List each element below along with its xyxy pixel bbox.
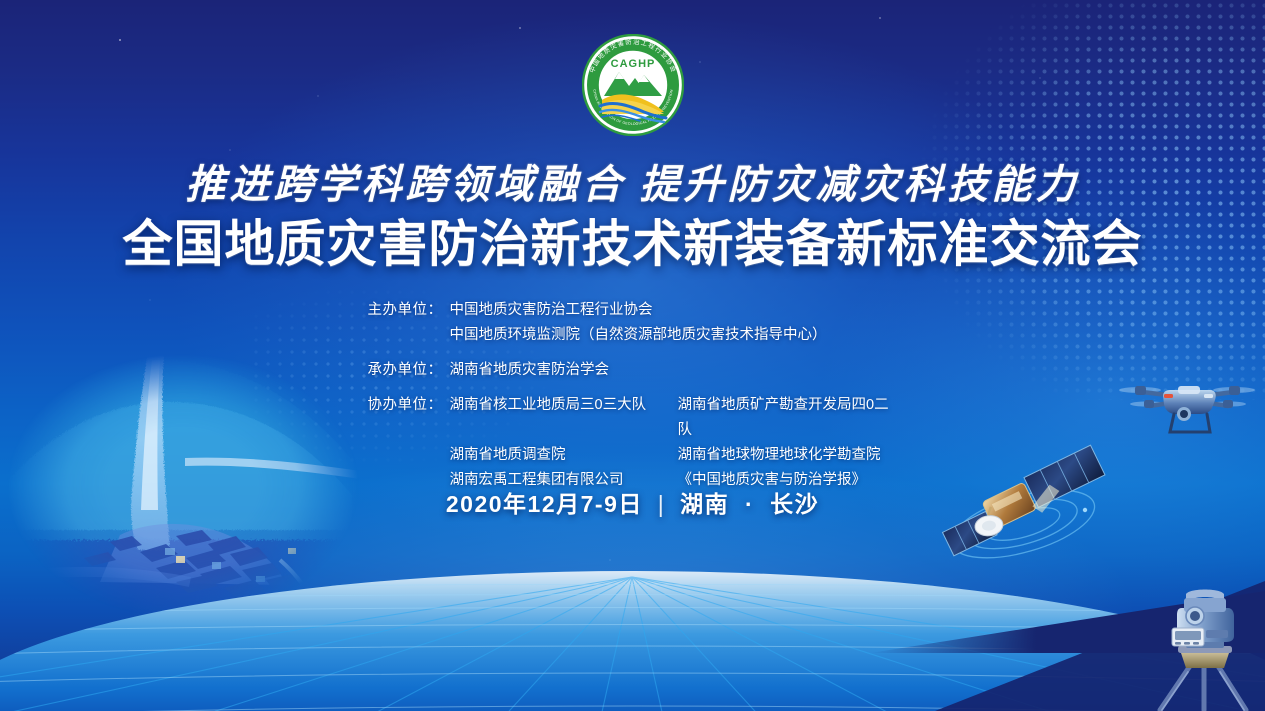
organizer-label-coorganizer: 协办单位： [368, 393, 450, 493]
organizer-line: 中国地质环境监测院（自然资源部地质灾害技术指导中心） [450, 323, 898, 348]
organizer-line: 湖南省地质灾害防治学会 [450, 358, 898, 383]
event-date: 2020年12月7-9日 [446, 491, 643, 517]
spacer [368, 348, 898, 358]
spacer [368, 383, 898, 393]
organizer-label-organizer: 承办单位： [368, 358, 450, 383]
organizer-line: 湖南省地球物理地球化学勘查院 [678, 443, 898, 468]
coorganizer-row: 湖南省核工业地质局三0三大队 湖南省地质矿产勘查开发局四0二队 [450, 393, 898, 443]
coorganizer-row: 湖南省地质调查院 湖南省地球物理地球化学勘查院 [450, 443, 898, 468]
meta-dot: · [745, 491, 754, 517]
organizer-label-host: 主办单位： [368, 298, 450, 348]
survey-drone [1118, 368, 1260, 442]
logo-container: 中国地质灾害防治工程行业协会 CHINA ASSOCIATION OF GEOL… [0, 34, 1265, 136]
organizer-line: 湖南省核工业地质局三0三大队 [450, 393, 678, 443]
conference-poster: 中国地质灾害防治工程行业协会 CHINA ASSOCIATION OF GEOL… [0, 0, 1265, 711]
page-title: 全国地质灾害防治新技术新装备新标准交流会 [0, 204, 1265, 276]
organizer-group-coorganizer: 协办单位： 湖南省核工业地质局三0三大队 湖南省地质矿产勘查开发局四0二队 湖南… [368, 393, 898, 493]
organizer-group-organizer: 承办单位： 湖南省地质灾害防治学会 [368, 358, 898, 383]
svg-text:CAGHP: CAGHP [610, 58, 655, 70]
caghp-association-logo: 中国地质灾害防治工程行业协会 CHINA ASSOCIATION OF GEOL… [582, 34, 684, 136]
organizer-line: 中国地质灾害防治工程行业协会 [450, 298, 898, 323]
earth-observation-satellite [935, 440, 1110, 580]
meta-separator: | [658, 491, 665, 517]
surveying-total-station [1142, 588, 1265, 711]
organizer-group-host: 主办单位： 中国地质灾害防治工程行业协会 中国地质环境监测院（自然资源部地质灾害… [368, 298, 898, 348]
organizer-line: 湖南省地质调查院 [450, 443, 678, 468]
event-province: 湖南 [680, 491, 729, 517]
event-city: 长沙 [770, 491, 819, 517]
organizer-line: 湖南省地质矿产勘查开发局四0二队 [678, 393, 898, 443]
calligraphy-slogan: 推进跨学科跨领域融合 提升防灾减灾科技能力 [0, 152, 1265, 210]
